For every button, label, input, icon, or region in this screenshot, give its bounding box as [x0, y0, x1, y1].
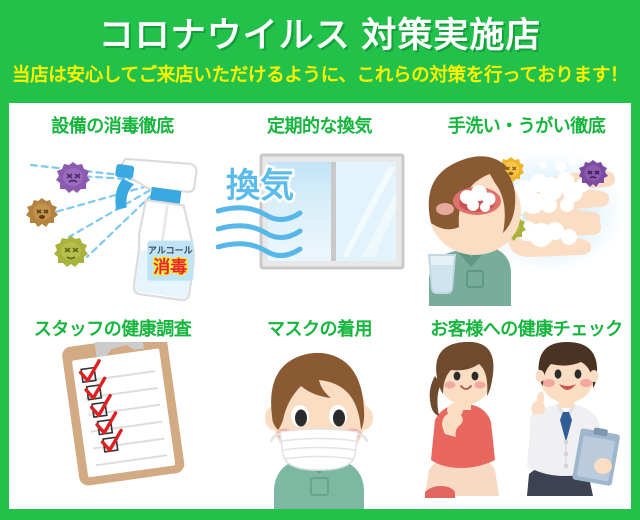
panel-title-mask: マスクの着用 — [216, 315, 423, 341]
window-ventilation-icon: 換気 — [216, 139, 423, 306]
panel-customer-check: お客様への健康チェック — [423, 306, 630, 509]
panel-mask: マスクの着用 — [216, 306, 423, 509]
panel-staff-health: スタッフの健康調査 — [9, 306, 216, 509]
person-with-mask-icon — [216, 342, 423, 509]
handwash-gargle-icon — [423, 139, 630, 306]
panel-title-customer-check: お客様への健康チェック — [423, 315, 630, 341]
panel-handwash: 手洗い・うがい徹底 — [423, 103, 630, 306]
spray-bottle-icon: アルコール 消毒 — [9, 139, 216, 306]
panel-title-ventilation: 定期的な換気 — [216, 112, 423, 138]
clipboard-checklist-icon — [9, 342, 216, 509]
page-subtitle: 当店は安心してご来店いただけるように、これらの対策を行っております！ — [0, 63, 640, 87]
panel-disinfection: 設備の消毒徹底 — [9, 103, 216, 306]
svg-text:アルコール: アルコール — [148, 246, 193, 256]
panel-title-disinfection: 設備の消毒徹底 — [9, 112, 216, 138]
panel-title-handwash: 手洗い・うがい徹底 — [423, 112, 630, 138]
covid-prevention-poster: コロナウイルス 対策実施店 当店は安心してご来店いただけるように、これらの対策を… — [0, 0, 640, 520]
doctor-and-customer-icon — [423, 342, 630, 509]
panel-ventilation: 定期的な換気 — [216, 103, 423, 306]
panel-title-staff-health: スタッフの健康調査 — [9, 315, 216, 341]
ventilation-overlay-text: 換気 — [226, 167, 294, 205]
svg-text:消毒: 消毒 — [153, 257, 187, 277]
measures-card: 設備の消毒徹底 — [9, 103, 631, 509]
page-title: コロナウイルス 対策実施店 — [0, 14, 640, 58]
poster-header: コロナウイルス 対策実施店 当店は安心してご来店いただけるように、これらの対策を… — [0, 0, 640, 103]
